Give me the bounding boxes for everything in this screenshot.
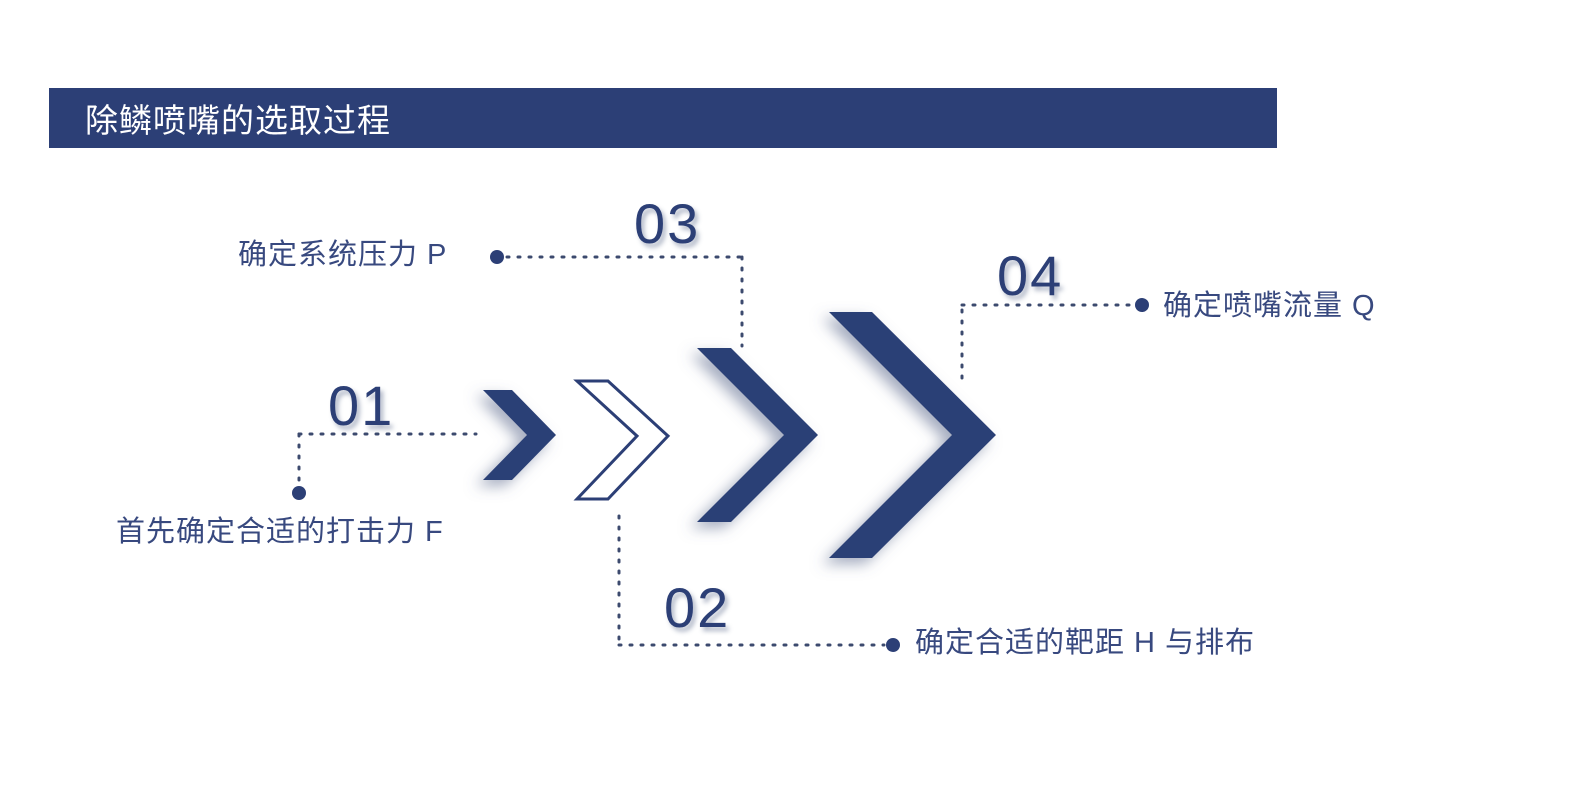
step-label-02: 确定合适的靶距 H 与排布 — [915, 629, 1255, 658]
step-label-03: 确定系统压力 P — [238, 241, 447, 270]
connector-01 — [292, 434, 476, 500]
step-number-01: 01 — [328, 378, 394, 434]
slide-canvas: 除鳞喷嘴的选取过程 — [0, 0, 1575, 807]
chevron-2-icon — [577, 381, 668, 499]
step-number-04: 04 — [997, 248, 1063, 304]
connector-01-dot — [292, 486, 306, 500]
step-label-04: 确定喷嘴流量 Q — [1163, 292, 1376, 321]
chevron-3-icon — [697, 348, 818, 522]
connector-03 — [490, 250, 742, 346]
chevron-4-icon — [829, 312, 996, 558]
connector-04-dot — [1135, 298, 1149, 312]
connector-04 — [962, 298, 1149, 378]
connector-03-dot — [490, 250, 504, 264]
process-diagram — [0, 0, 1575, 807]
chevron-1-icon — [483, 390, 556, 480]
step-label-01: 首先确定合适的打击力 F — [116, 518, 444, 547]
step-number-03: 03 — [634, 196, 700, 252]
connector-02-dot — [886, 638, 900, 652]
step-number-02: 02 — [664, 580, 730, 636]
